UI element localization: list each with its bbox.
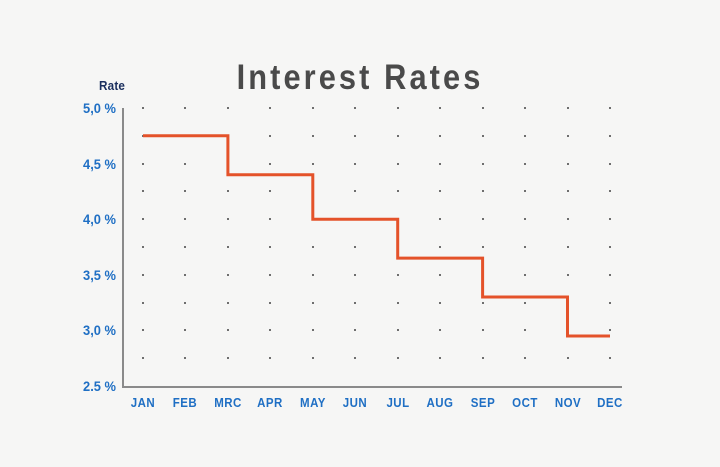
- y-tick-label: 5,0 %: [63, 100, 116, 116]
- y-tick-label: 4,5 %: [63, 156, 116, 172]
- x-tick-label: JAN: [131, 396, 155, 410]
- step-line-series: [122, 108, 622, 388]
- x-tick-label: JUN: [343, 396, 367, 410]
- y-tick-label: 4,0 %: [63, 211, 116, 227]
- x-tick-label: OCT: [512, 396, 538, 410]
- x-tick-label: APR: [258, 396, 284, 410]
- plot-area: [122, 108, 622, 386]
- y-tick-label: 2.5 %: [63, 378, 116, 394]
- x-tick-label: JUL: [386, 396, 409, 410]
- y-axis-label: Rate: [99, 78, 125, 93]
- x-tick-label: FEB: [173, 396, 197, 410]
- interest-rates-chart: Interest Rates Rate 5,0 %4,5 %4,0 %3,5 %…: [0, 0, 720, 467]
- x-tick-label: DEC: [597, 396, 623, 410]
- y-tick-label: 3,0 %: [63, 322, 116, 338]
- y-axis-tick-labels: 5,0 %4,5 %4,0 %3,5 %3,0 %2.5 %: [56, 108, 116, 386]
- x-tick-label: MRC: [214, 396, 242, 410]
- x-tick-label: NOV: [554, 396, 580, 410]
- x-tick-label: AUG: [427, 396, 454, 410]
- step-line-path: [143, 136, 610, 336]
- x-axis-tick-labels: JANFEBMRCAPRMAYJUNJULAUGSEPOCTNOVDEC: [122, 396, 622, 416]
- chart-title: Interest Rates: [43, 58, 677, 98]
- x-tick-label: MAY: [300, 396, 326, 410]
- x-tick-label: SEP: [470, 396, 494, 410]
- y-tick-label: 3,5 %: [63, 267, 116, 283]
